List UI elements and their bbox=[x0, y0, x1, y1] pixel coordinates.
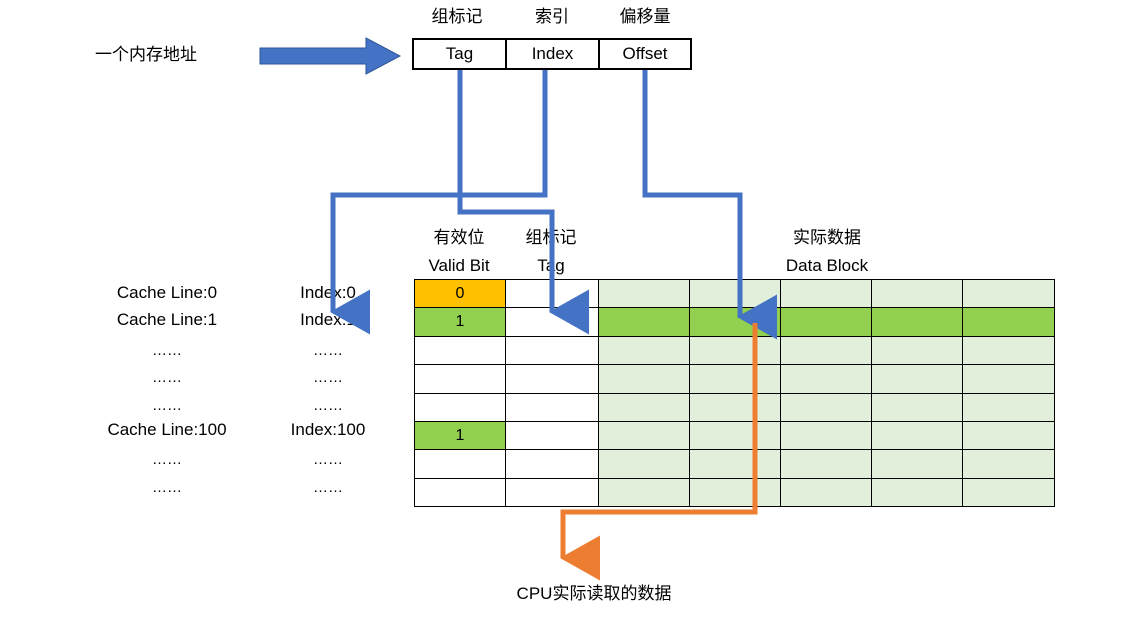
cache-line-label-1: Cache Line:1 bbox=[117, 311, 217, 328]
data-block-cell bbox=[690, 365, 781, 393]
valid-bit-cell: 1 bbox=[415, 308, 506, 336]
table-row bbox=[415, 336, 1055, 364]
data-block-cell bbox=[781, 365, 872, 393]
tag-cell bbox=[506, 336, 599, 364]
data-block-cell bbox=[872, 421, 963, 449]
data-block-cell bbox=[872, 365, 963, 393]
cache-line-label-4: …… bbox=[152, 398, 182, 413]
valid-bit-cell: 0 bbox=[415, 280, 506, 308]
data-block-cell bbox=[963, 280, 1055, 308]
caption-index-cn: 索引 bbox=[535, 8, 569, 25]
index-label-0: Index:0 bbox=[300, 284, 356, 301]
tag-cell bbox=[506, 365, 599, 393]
tag-cell bbox=[506, 421, 599, 449]
index-label-2: …… bbox=[313, 343, 343, 358]
table-row: 1 bbox=[415, 308, 1055, 336]
data-block-cell bbox=[599, 393, 690, 421]
data-block-cell bbox=[781, 421, 872, 449]
index-label-1: Index:1 bbox=[300, 311, 356, 328]
memory-address-box: Tag Index Offset bbox=[412, 38, 692, 70]
data-block-cell bbox=[963, 336, 1055, 364]
cpu-read-result-label: CPU实际读取的数据 bbox=[517, 585, 672, 602]
data-block-cell bbox=[872, 478, 963, 506]
data-block-cell bbox=[599, 421, 690, 449]
table-row bbox=[415, 478, 1055, 506]
data-block-cell bbox=[781, 280, 872, 308]
index-label-4: …… bbox=[313, 398, 343, 413]
table-row bbox=[415, 450, 1055, 478]
table-row: 0 bbox=[415, 280, 1055, 308]
data-block-cell bbox=[599, 450, 690, 478]
valid-bit-cell bbox=[415, 450, 506, 478]
index-connector-arrow bbox=[333, 70, 545, 312]
index-label-3: …… bbox=[313, 370, 343, 385]
data-block-cell bbox=[963, 421, 1055, 449]
data-block-cell bbox=[690, 450, 781, 478]
data-block-cell bbox=[872, 336, 963, 364]
cache-line-label-5: Cache Line:100 bbox=[107, 421, 226, 438]
address-field-tag: Tag bbox=[414, 40, 507, 68]
data-block-cell bbox=[690, 280, 781, 308]
caption-offset-cn: 偏移量 bbox=[620, 8, 671, 25]
valid-bit-cell bbox=[415, 336, 506, 364]
header-valid-bit-cn: 有效位 bbox=[434, 229, 485, 246]
data-block-cell bbox=[872, 393, 963, 421]
data-block-cell bbox=[963, 308, 1055, 336]
address-field-index: Index bbox=[507, 40, 600, 68]
cache-line-label-3: …… bbox=[152, 370, 182, 385]
data-block-cell bbox=[963, 365, 1055, 393]
header-tag-cn: 组标记 bbox=[526, 229, 577, 246]
cache-line-label-6: …… bbox=[152, 452, 182, 467]
data-block-cell bbox=[872, 280, 963, 308]
cache-line-label-2: …… bbox=[152, 343, 182, 358]
data-block-cell bbox=[690, 478, 781, 506]
data-block-cell bbox=[599, 365, 690, 393]
data-block-cell bbox=[599, 478, 690, 506]
memory-address-source-label: 一个内存地址 bbox=[95, 46, 197, 63]
data-block-cell bbox=[599, 308, 690, 336]
data-block-cell bbox=[599, 336, 690, 364]
data-block-cell bbox=[690, 393, 781, 421]
valid-bit-cell bbox=[415, 365, 506, 393]
data-block-cell bbox=[690, 308, 781, 336]
data-block-cell bbox=[872, 308, 963, 336]
header-valid-bit-en: Valid Bit bbox=[428, 257, 489, 274]
table-row bbox=[415, 393, 1055, 421]
data-block-cell bbox=[781, 308, 872, 336]
data-block-cell bbox=[690, 336, 781, 364]
tag-cell bbox=[506, 393, 599, 421]
tag-cell bbox=[506, 450, 599, 478]
header-data-block-en: Data Block bbox=[786, 257, 868, 274]
cache-line-label-7: …… bbox=[152, 480, 182, 495]
data-block-cell bbox=[781, 478, 872, 506]
index-label-7: …… bbox=[313, 480, 343, 495]
valid-bit-cell bbox=[415, 478, 506, 506]
header-data-block-cn: 实际数据 bbox=[793, 229, 861, 246]
data-block-cell bbox=[690, 421, 781, 449]
table-row: 1 bbox=[415, 421, 1055, 449]
tag-cell bbox=[506, 280, 599, 308]
diagram-canvas: 组标记 索引 偏移量 一个内存地址 Tag Index Offset 有效位 V… bbox=[0, 0, 1142, 638]
tag-connector-arrow bbox=[460, 70, 552, 312]
data-block-cell bbox=[963, 450, 1055, 478]
tag-cell bbox=[506, 478, 599, 506]
cache-table: 011 bbox=[414, 279, 1055, 507]
caption-tag-cn: 组标记 bbox=[432, 8, 483, 25]
header-tag-en: Tag bbox=[537, 257, 564, 274]
data-block-cell bbox=[963, 393, 1055, 421]
data-block-cell bbox=[599, 280, 690, 308]
valid-bit-cell bbox=[415, 393, 506, 421]
tag-cell bbox=[506, 308, 599, 336]
index-label-6: …… bbox=[313, 452, 343, 467]
cache-line-label-0: Cache Line:0 bbox=[117, 284, 217, 301]
valid-bit-cell: 1 bbox=[415, 421, 506, 449]
index-label-5: Index:100 bbox=[291, 421, 366, 438]
data-block-cell bbox=[781, 336, 872, 364]
data-block-cell bbox=[781, 393, 872, 421]
memory-address-block-arrow bbox=[260, 38, 400, 74]
data-block-cell bbox=[963, 478, 1055, 506]
table-row bbox=[415, 365, 1055, 393]
data-block-cell bbox=[781, 450, 872, 478]
address-field-offset: Offset bbox=[600, 40, 690, 68]
data-block-cell bbox=[872, 450, 963, 478]
